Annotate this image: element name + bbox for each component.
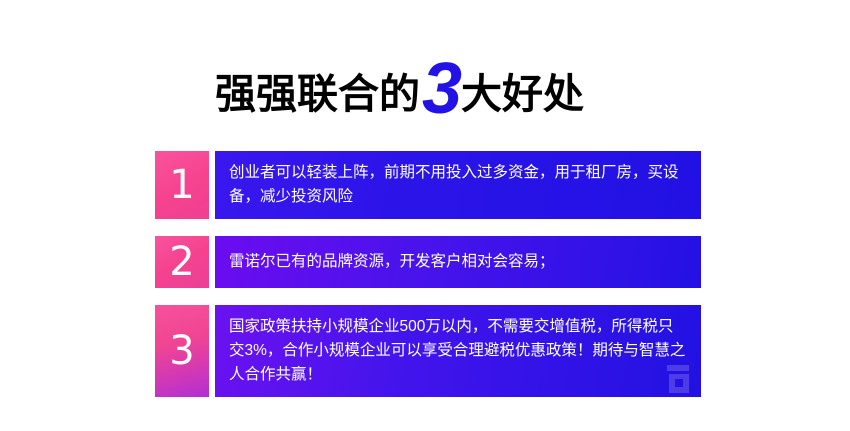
benefit-list: 1 创业者可以轻装上阵，前期不用投入过多资金，用于租厂房，买设备，减少投资风险 … xyxy=(155,151,701,397)
benefit-row: 1 创业者可以轻装上阵，前期不用投入过多资金，用于租厂房，买设备，减少投资风险 xyxy=(155,151,701,219)
benefit-number-badge-2: 2 xyxy=(155,236,209,288)
slide-canvas: 强强联合的3大好处 1 创业者可以轻装上阵，前期不用投入过多资金，用于租厂房，买… xyxy=(0,0,850,431)
benefit-row: 2 雷诺尔已有的品牌资源，开发客户相对会容易； xyxy=(155,236,701,288)
benefit-text-box-2: 雷诺尔已有的品牌资源，开发客户相对会容易； xyxy=(215,236,701,288)
benefit-text-box-1: 创业者可以轻装上阵，前期不用投入过多资金，用于租厂房，买设备，减少投资风险 xyxy=(215,151,701,219)
page-title-suffix: 大好处 xyxy=(461,74,584,115)
benefit-text-1: 创业者可以轻装上阵，前期不用投入过多资金，用于租厂房，买设备，减少投资风险 xyxy=(229,161,687,209)
benefit-text-box-3: 国家政策扶持小规模企业500万以内，不需要交增值税，所得税只交3%，合作小规模企… xyxy=(215,305,701,397)
benefit-number-badge-3: 3 xyxy=(155,305,209,397)
benefit-number-badge-1: 1 xyxy=(155,151,209,219)
page-title: 强强联合的3大好处 xyxy=(215,48,584,126)
benefit-row: 3 国家政策扶持小规模企业500万以内，不需要交增值税，所得税只交3%，合作小规… xyxy=(155,305,701,397)
benefit-text-3: 国家政策扶持小规模企业500万以内，不需要交增值税，所得税只交3%，合作小规模企… xyxy=(229,315,687,387)
page-title-prefix: 强强联合的 xyxy=(215,74,420,115)
benefit-text-2: 雷诺尔已有的品牌资源，开发客户相对会容易； xyxy=(229,250,687,274)
page-title-number: 3 xyxy=(422,53,460,125)
